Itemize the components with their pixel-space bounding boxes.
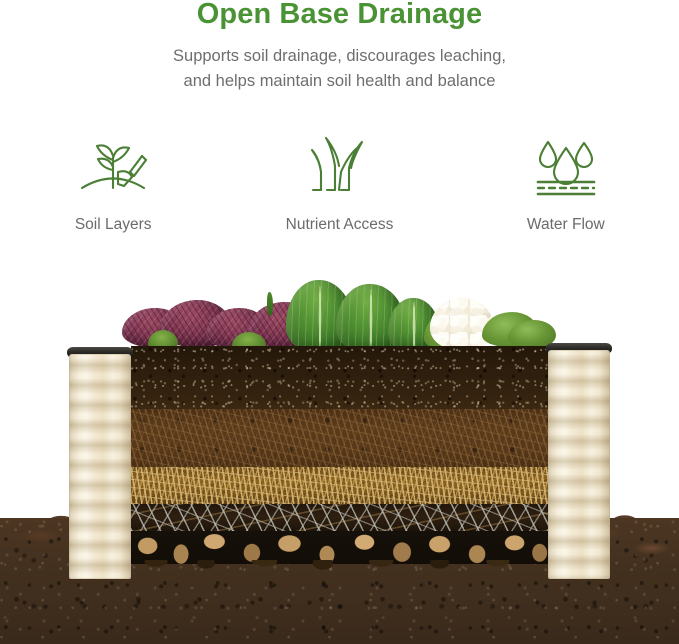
page-subtitle-line-1: Supports soil drainage, discourages leac… — [173, 47, 506, 65]
feature-row: Soil Layers Nutrient Acce — [0, 134, 679, 264]
soil-layer-topsoil — [131, 346, 548, 409]
corrugated-post-right — [548, 350, 610, 579]
page-subtitle-line-2: and helps maintain soil health and balan… — [0, 69, 679, 94]
soil-layer-twigs — [131, 504, 548, 531]
feature-soil-layers: Soil Layers — [0, 134, 226, 264]
feature-nutrient-access: Nutrient Access — [226, 134, 452, 264]
plant-shovel-soil-icon — [70, 134, 156, 196]
soil-layer-straw — [131, 467, 548, 504]
feature-water-flow: Water Flow — [453, 134, 679, 264]
feature-label: Soil Layers — [75, 213, 152, 236]
page-subtitle: Supports soil drainage, discourages leac… — [0, 44, 679, 94]
crop-sprout — [267, 292, 273, 316]
water-drops-flow-icon — [523, 134, 609, 196]
soil-layer-compost — [131, 409, 548, 467]
product-feature-panel: Open Base Drainage Supports soil drainag… — [0, 0, 679, 644]
grass-blades-icon — [296, 134, 382, 196]
page-title: Open Base Drainage — [0, 0, 679, 33]
raised-garden-bed-cross-section — [0, 264, 679, 644]
corrugated-post-left — [69, 354, 131, 579]
bed-base-open-drainage — [131, 560, 548, 576]
soil-layer-stack — [131, 346, 548, 564]
feature-label: Water Flow — [527, 213, 605, 236]
feature-label: Nutrient Access — [286, 213, 394, 236]
